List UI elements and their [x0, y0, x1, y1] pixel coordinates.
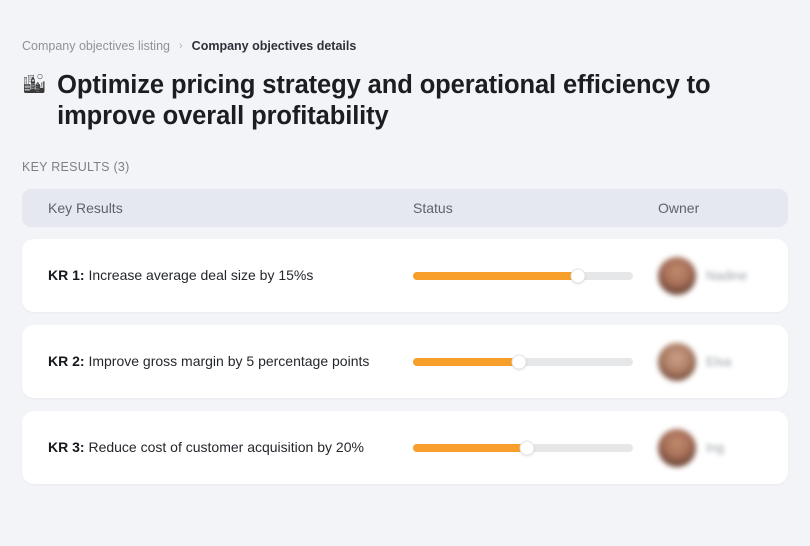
- owner-name: Nadine: [706, 268, 747, 283]
- progress-fill: [413, 272, 578, 280]
- column-header-owner: Owner: [658, 200, 788, 216]
- objective-details-page: Company objectives listing › Company obj…: [0, 0, 810, 546]
- progress-fill: [413, 358, 519, 366]
- key-result-text: Reduce cost of customer acquisition by 2…: [85, 439, 364, 455]
- progress-slider[interactable]: [413, 358, 633, 366]
- chevron-right-icon: ›: [179, 38, 183, 54]
- column-header-key-results: Key Results: [48, 200, 413, 216]
- owner-name: Elsa: [706, 354, 731, 369]
- status-cell: [413, 358, 658, 366]
- status-cell: [413, 444, 658, 452]
- key-result-tag: KR 2:: [48, 353, 85, 369]
- avatar: [658, 343, 696, 381]
- page-title: Optimize pricing strategy and operationa…: [57, 70, 717, 132]
- status-cell: [413, 272, 658, 280]
- table-header-row: Key Results Status Owner: [22, 189, 788, 227]
- key-result-text: Improve gross margin by 5 percentage poi…: [85, 353, 370, 369]
- key-results-table: Key Results Status Owner KR 1: Increase …: [22, 189, 788, 484]
- owner-cell[interactable]: Elsa: [658, 343, 788, 381]
- key-result-label: KR 2: Improve gross margin by 5 percenta…: [48, 352, 413, 371]
- key-result-tag: KR 1:: [48, 267, 85, 283]
- owner-cell[interactable]: Nadine: [658, 257, 788, 295]
- buildings-icon: 🏙: [22, 70, 46, 100]
- progress-slider[interactable]: [413, 444, 633, 452]
- key-result-label: KR 1: Increase average deal size by 15%s: [48, 266, 413, 285]
- avatar: [658, 429, 696, 467]
- key-result-tag: KR 3:: [48, 439, 85, 455]
- table-row[interactable]: KR 2: Improve gross margin by 5 percenta…: [22, 325, 788, 398]
- table-row[interactable]: KR 3: Reduce cost of customer acquisitio…: [22, 411, 788, 484]
- progress-knob[interactable]: [511, 354, 526, 369]
- progress-knob[interactable]: [520, 440, 535, 455]
- table-row[interactable]: KR 1: Increase average deal size by 15%s…: [22, 239, 788, 312]
- owner-cell[interactable]: Ing: [658, 429, 788, 467]
- progress-fill: [413, 444, 527, 452]
- table-body: KR 1: Increase average deal size by 15%s…: [22, 239, 788, 484]
- progress-knob[interactable]: [571, 268, 586, 283]
- key-results-section-label: KEY RESULTS (3): [0, 132, 810, 175]
- breadcrumb-current: Company objectives details: [192, 38, 357, 54]
- key-result-label: KR 3: Reduce cost of customer acquisitio…: [48, 438, 413, 457]
- owner-name: Ing: [706, 440, 724, 455]
- avatar: [658, 257, 696, 295]
- breadcrumb: Company objectives listing › Company obj…: [0, 0, 810, 54]
- column-header-status: Status: [413, 200, 658, 216]
- breadcrumb-parent-link[interactable]: Company objectives listing: [22, 38, 170, 54]
- progress-slider[interactable]: [413, 272, 633, 280]
- page-title-row: 🏙 Optimize pricing strategy and operatio…: [0, 54, 810, 132]
- key-result-text: Increase average deal size by 15%s: [85, 267, 314, 283]
